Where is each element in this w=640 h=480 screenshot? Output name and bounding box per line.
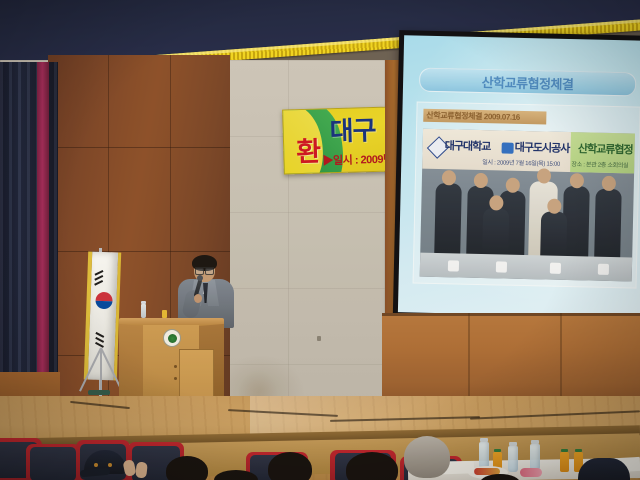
podium-water-bottle <box>141 304 146 318</box>
photo-org-left-text: 대구대학교 <box>445 137 491 154</box>
dessert-item <box>520 468 542 477</box>
photo-sub-right-text: 장소 : 본관 2층 소회의실 <box>571 159 628 169</box>
projection-screen: 산학교류협정체결 산학교류협정체결 2009.07.16 대구대학교 대구도시공… <box>398 35 640 318</box>
photo-sub-left-text: 일시 : 2009년 7월 16일(목) 15:00 <box>482 157 560 168</box>
taeguk-circle-icon <box>95 292 113 310</box>
photo-person <box>434 183 462 256</box>
photo-person-front <box>540 211 567 258</box>
juice-bottle <box>560 452 569 472</box>
slide-title-text: 산학교류협정체결 <box>482 72 574 93</box>
water-bottle <box>479 442 489 468</box>
photo-person-front <box>482 208 509 257</box>
photo-person <box>594 189 622 260</box>
audience-cap <box>578 458 630 480</box>
photo-green-panel-text: 산학교류협정 <box>578 140 633 157</box>
slide-title-bar: 산학교류협정체결 <box>419 68 636 97</box>
podium-marker <box>162 310 167 318</box>
water-bottle <box>530 444 540 470</box>
banner-welcome-text: 환 <box>296 130 321 170</box>
stage-back-wood-wall <box>382 313 640 406</box>
glasses-icon <box>195 267 214 273</box>
slide-caption-bar: 산학교류협정체결 2009.07.16 <box>423 109 546 125</box>
water-bottle <box>508 446 518 472</box>
audience-head <box>166 456 208 480</box>
flag-tripod-stand <box>78 348 124 396</box>
daegu-urban-corp-logo-icon <box>502 142 514 153</box>
photo-org-right-text: 대구도시공사 <box>514 139 569 156</box>
lectern-front-face <box>143 325 199 407</box>
curtain-magenta-trim <box>37 62 49 380</box>
slide-content-area: 산학교류협정체결 2009.07.16 대구대학교 대구도시공사 산학교류협정 … <box>413 102 640 289</box>
photo-table <box>420 253 632 282</box>
auditorium-seat <box>26 444 80 480</box>
auditorium-presentation-photo: 환 대구 ▶일시 : 2009년 산학교류협정체결 산학교류협정체결 2009.… <box>0 0 640 480</box>
wall-mark <box>317 336 321 341</box>
presenter-hand <box>194 294 202 303</box>
microphone-head-icon <box>197 275 203 281</box>
flag-base <box>88 390 110 395</box>
audience-head-gray <box>404 436 450 478</box>
audience-head <box>268 452 312 480</box>
institution-emblem-icon <box>163 329 181 347</box>
welcome-banner: 환 대구 ▶일시 : 2009년 <box>282 106 396 174</box>
lectern-left-face <box>119 324 145 404</box>
audience-head <box>346 452 398 480</box>
slide-group-photo: 대구대학교 대구도시공사 산학교류협정 일시 : 2009년 7월 16일(목)… <box>420 129 635 282</box>
lectern <box>119 318 224 406</box>
banner-daegu-text: 대구 <box>329 110 376 148</box>
stage-curtain <box>0 62 58 380</box>
slide-caption-text: 산학교류협정체결 2009.07.16 <box>426 110 520 123</box>
banner-date-text: ▶일시 : 2009년 <box>322 151 393 169</box>
photo-backdrop-banner: 대구대학교 대구도시공사 산학교류협정 일시 : 2009년 7월 16일(목)… <box>422 129 635 174</box>
